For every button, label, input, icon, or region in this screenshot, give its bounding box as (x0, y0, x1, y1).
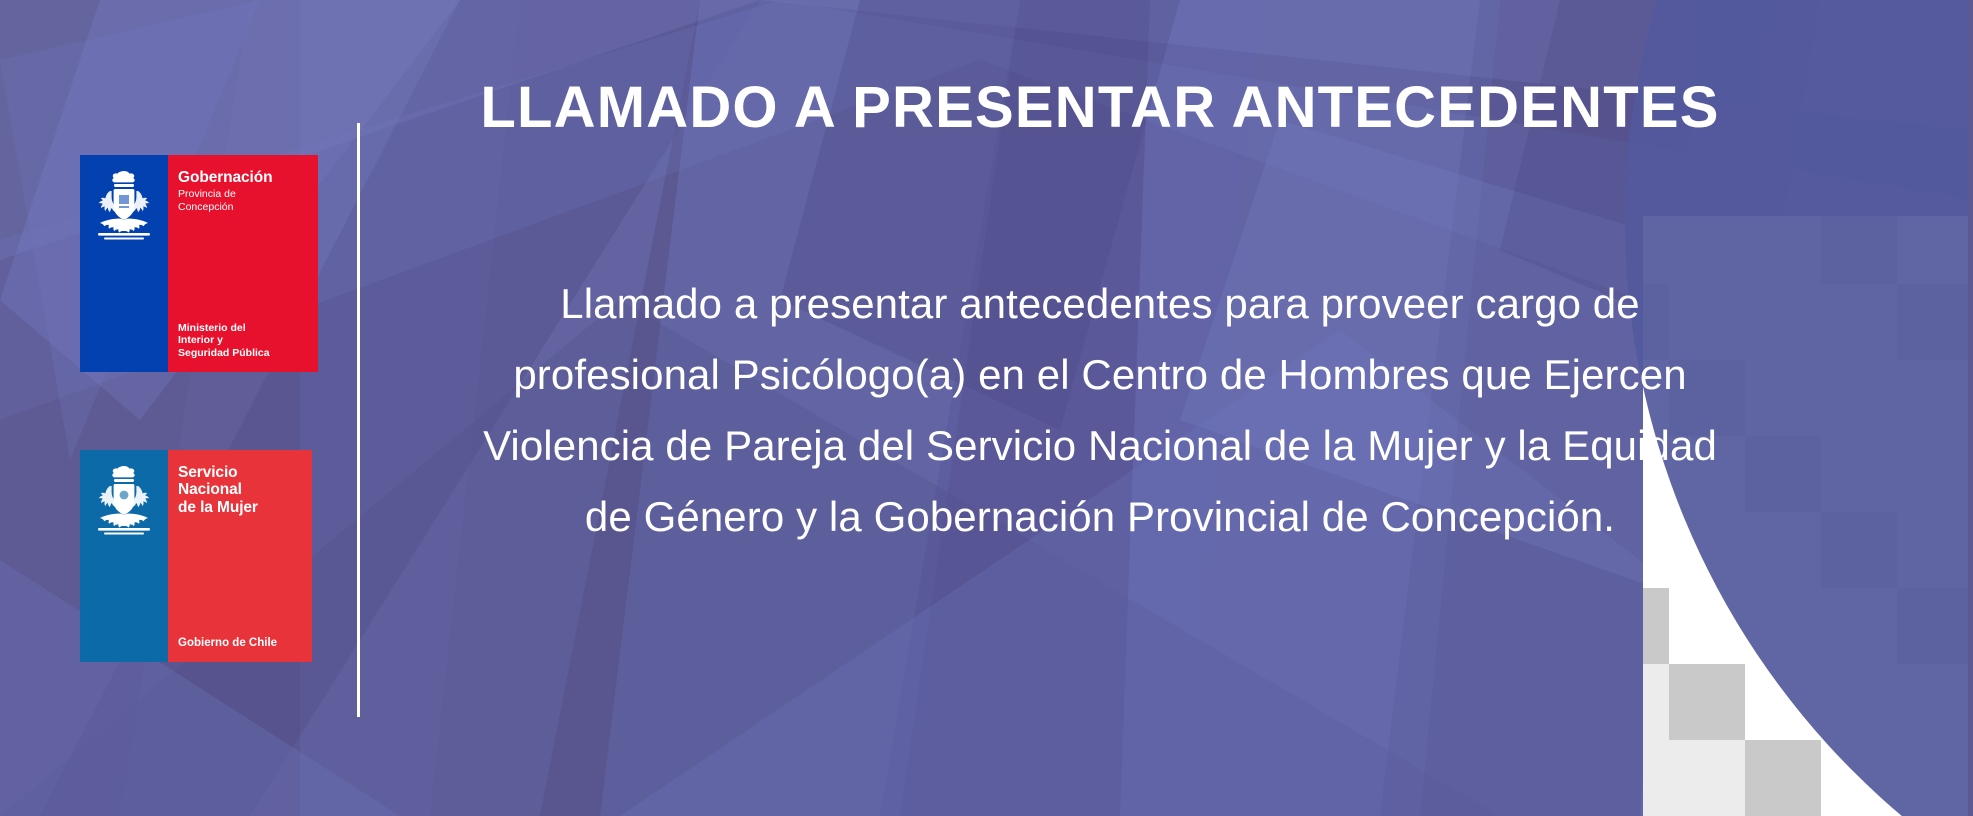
checker-cell (1745, 740, 1821, 816)
body-paragraph: Llamado a presentar antecedentes para pr… (370, 268, 1830, 552)
banner-root: Gobernación Provincia de Concepción Mini… (0, 0, 1973, 816)
chile-coat-of-arms-icon (92, 464, 156, 538)
logo-sernameg-title: Servicio Nacional de la Mujer (178, 464, 304, 516)
logo-gobernacion-subtitle-line-2: Concepción (178, 201, 310, 214)
chile-coat-of-arms-icon (92, 169, 156, 243)
logo-sernameg-emblem-panel (80, 450, 168, 662)
logo-gobernacion-footer-line-2: Interior y (178, 334, 310, 347)
logo-sernameg-title-line-2: Nacional (178, 481, 304, 498)
logo-sernameg-title-line-3: de la Mujer (178, 499, 304, 516)
logo-sernameg-text-panel: Servicio Nacional de la Mujer Gobierno d… (168, 450, 312, 662)
logo-gobernacion-emblem-panel (80, 155, 168, 372)
logo-sernameg-footer: Gobierno de Chile (178, 636, 304, 650)
body-line-3: Violencia de Pareja del Servicio Naciona… (370, 410, 1830, 481)
body-line-2: profesional Psicólogo(a) en el Centro de… (370, 339, 1830, 410)
body-line-1: Llamado a presentar antecedentes para pr… (370, 268, 1830, 339)
logo-sernameg-title-line-1: Servicio (178, 464, 304, 481)
logo-gobernacion-subtitle: Provincia de Concepción (178, 188, 310, 213)
checker-cell (1643, 588, 1669, 664)
logo-gobernacion: Gobernación Provincia de Concepción Mini… (80, 155, 318, 372)
right-edge-strip (1968, 0, 1973, 816)
logo-sernameg-footer-line-1: Gobierno de Chile (178, 636, 304, 650)
logo-gobernacion-text-panel: Gobernación Provincia de Concepción Mini… (168, 155, 318, 372)
logo-gobernacion-title: Gobernación (178, 169, 310, 186)
logo-gobernacion-footer-line-3: Seguridad Pública (178, 347, 310, 360)
checker-cell (1643, 740, 1669, 816)
logo-gobernacion-heading: Gobernación Provincia de Concepción (178, 169, 310, 214)
page-title: LLAMADO A PRESENTAR ANTECEDENTES (380, 78, 1820, 139)
checker-cell (1669, 740, 1745, 816)
checker-cell (1643, 664, 1669, 740)
checker-cell (1669, 664, 1745, 740)
logo-gobernacion-footer: Ministerio del Interior y Seguridad Públ… (178, 322, 310, 360)
logo-stack: Gobernación Provincia de Concepción Mini… (80, 155, 320, 662)
logo-gobernacion-footer-line-1: Ministerio del (178, 322, 310, 335)
body-line-4: de Género y la Gobernación Provincial de… (370, 481, 1830, 552)
vertical-divider (357, 123, 360, 717)
logo-sernameg: Servicio Nacional de la Mujer Gobierno d… (80, 450, 312, 662)
logo-gobernacion-subtitle-line-1: Provincia de (178, 188, 310, 201)
